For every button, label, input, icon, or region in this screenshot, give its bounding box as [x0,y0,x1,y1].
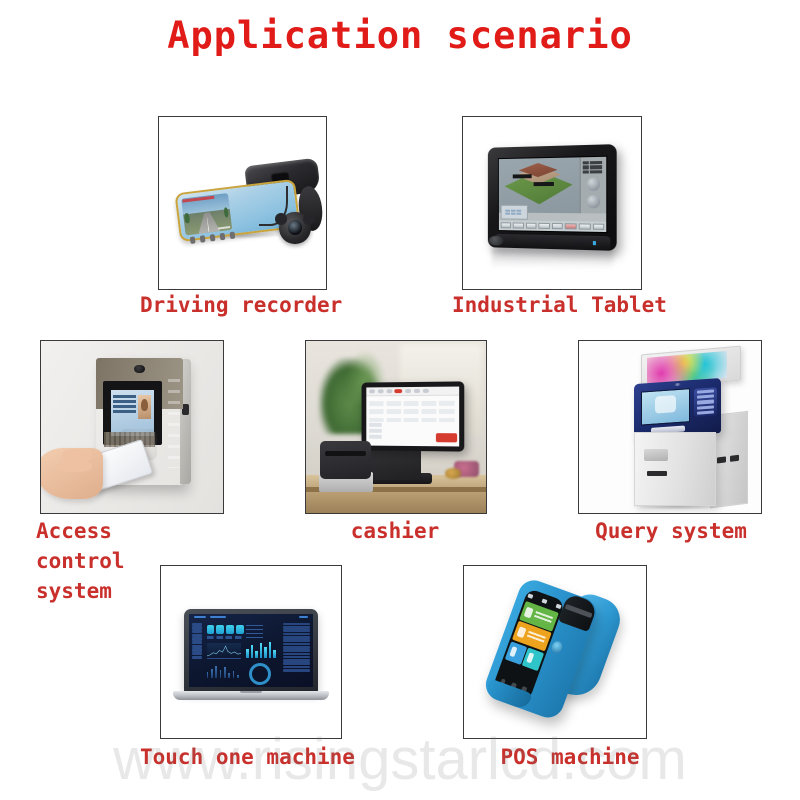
page-title: Application scenario [0,14,800,57]
product-image-access-control [40,340,224,514]
status-led [593,241,597,245]
lcd-text-lines [113,395,135,430]
side-button[interactable] [182,404,189,415]
camera-bracket [275,213,287,225]
camera-icon [134,365,144,374]
pos-software-ui [366,387,459,447]
vertical-branding-text [168,379,180,468]
status-grid [583,161,605,175]
pos-machine-illustration [473,568,626,736]
product-image-touch-one-machine [160,565,342,739]
power-button[interactable] [551,640,564,654]
pos-item-row [369,409,457,414]
left-button-panel [501,205,528,221]
dashboard-bar-chart [246,642,276,658]
3d-label [533,183,554,187]
tab-bar [499,221,607,232]
countertop-item [445,468,461,478]
caption-driving-recorder: Driving recorder [140,290,370,320]
rear-camera-module [279,212,311,245]
dial-control [587,195,601,209]
product-image-pos-machine [463,565,647,739]
dial-control [587,178,601,192]
pos-item-row [369,418,457,423]
product-image-industrial-tablet [462,116,642,290]
caption-touch-one-machine: Touch one machine [140,742,390,772]
pos-category-list [369,424,382,441]
receipt-slot [325,451,365,456]
3d-label [513,174,532,178]
product-image-query-system [578,340,762,514]
product-image-cashier [305,340,487,514]
dashboard-donut-chart [249,663,271,685]
dashboard-kpi-labels [207,636,244,639]
dashboard-topbar [189,614,312,621]
right-control-panel [580,157,607,214]
dashboard-bar-chart-secondary [207,663,239,678]
receipt-slot[interactable] [647,471,666,477]
pos-checkout-button[interactable] [436,433,457,443]
dashboard-legend-panel [246,625,271,638]
receipt-printer [320,441,370,479]
screen-content [655,395,676,413]
dashboard-line-chart [207,643,241,659]
site-watermark: www.risingstarlcd.com [0,726,800,793]
finger [57,461,92,472]
driving-recorder-illustration [159,117,326,289]
dashboard-data-list [283,623,310,682]
caption-cashier: cashier [305,516,485,546]
kiosk-touchscreen[interactable] [641,387,690,424]
receipt-slot [565,605,592,618]
app-tiles [504,601,559,673]
hand [40,448,103,500]
caption-query-system: Query system [578,516,764,546]
id-photo [138,395,151,419]
cabinet-panel [644,449,668,461]
kiosk-keypad[interactable] [694,387,717,417]
dashboard-sidebar [192,623,202,682]
output-slot[interactable] [730,455,739,463]
pos-screen[interactable] [362,382,465,452]
kiosk-screen-housing [634,377,721,438]
tablet-screen [498,156,608,233]
pos-toolbar [366,387,459,397]
reflection [491,247,613,268]
kiosk-cabinet [634,432,716,506]
dashboard-kpi-tiles [207,625,244,634]
pos-shell [481,576,601,723]
output-slot[interactable] [717,457,726,465]
camera-icon [674,382,681,385]
caption-pos-machine: POS machine [470,742,670,772]
product-image-driving-recorder [158,116,327,290]
pos-item-row [369,401,457,406]
line-chart-svg [207,644,241,659]
laptop-lid [184,609,317,692]
laptop-screen[interactable] [189,614,312,687]
industrial-tablet-illustration [488,144,617,251]
caption-industrial-tablet: Industrial Tablet [452,290,692,320]
application-scenario-page: Application scenario [0,0,800,800]
